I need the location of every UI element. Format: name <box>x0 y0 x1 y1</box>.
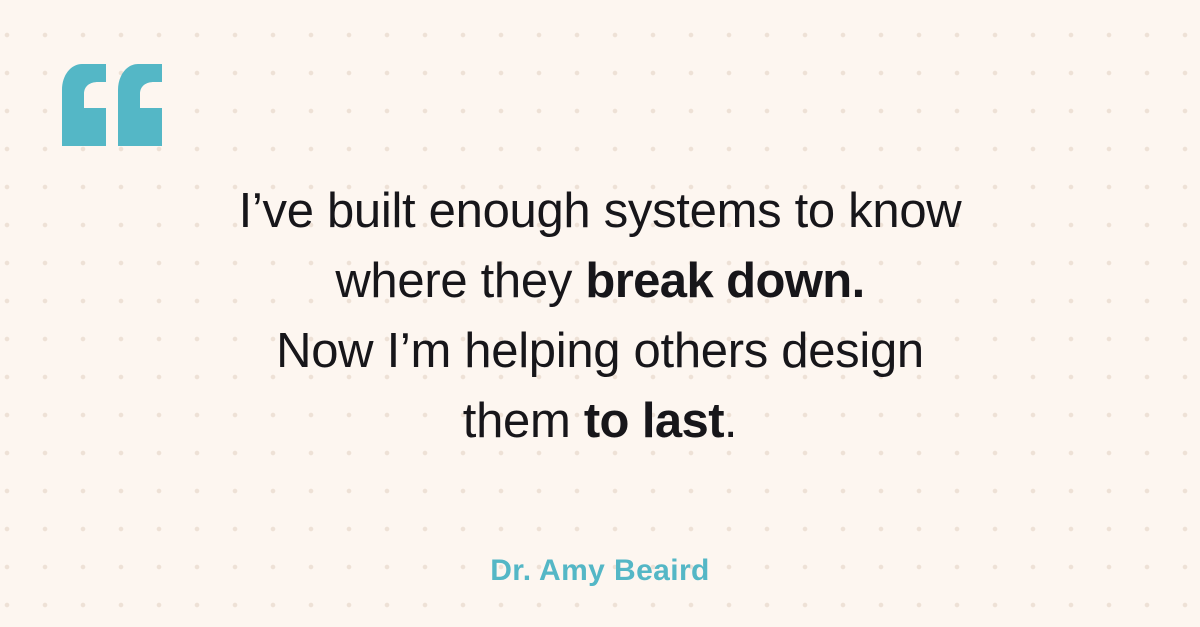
quote-line-3: Now I’m helping others design <box>100 316 1100 386</box>
quote-text: I’ve built enough systems to know where … <box>100 176 1100 456</box>
quote-line-4-regular: them <box>463 394 584 448</box>
quote-line-2-regular: where they <box>335 254 585 308</box>
quote-line-3-text: Now I’m helping others design <box>276 324 924 378</box>
quote-line-4: them to last. <box>100 386 1100 456</box>
quote-line-1-text: I’ve built enough systems to know <box>239 184 962 238</box>
quote-line-2: where they break down. <box>100 246 1100 316</box>
attribution-name: Dr. Amy Beaird <box>0 552 1200 590</box>
quote-card: I’ve built enough systems to know where … <box>0 0 1200 627</box>
quote-line-4-emphasis: to last <box>584 394 724 448</box>
opening-double-quote-icon <box>62 64 162 146</box>
quote-line-4-tail: . <box>724 394 737 448</box>
quote-line-1: I’ve built enough systems to know <box>100 176 1100 246</box>
quote-line-2-emphasis: break down. <box>585 254 864 308</box>
